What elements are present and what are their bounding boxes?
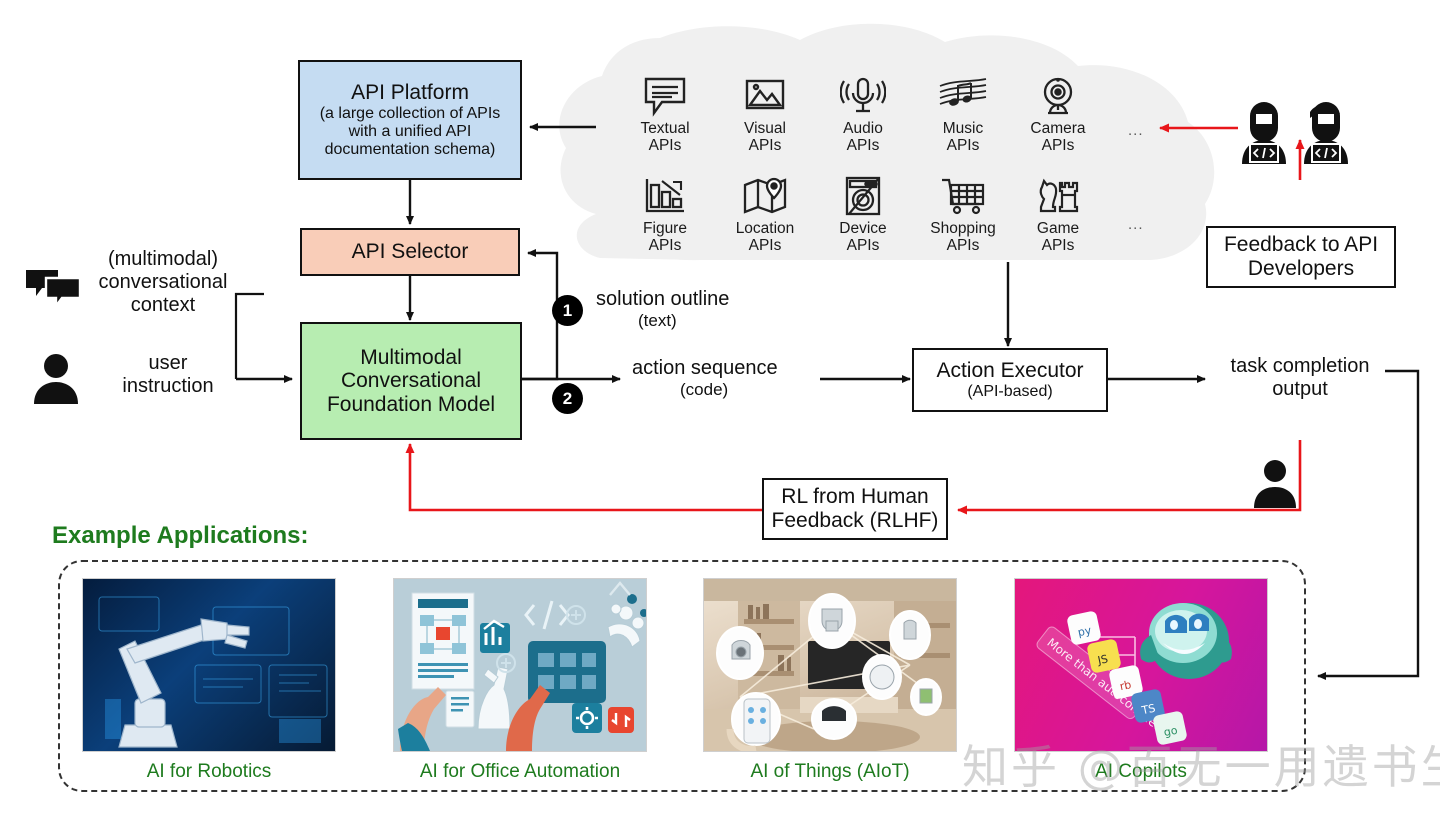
application-robotics[interactable]: AI for Robotics	[82, 578, 336, 783]
foundation-model-line3: Foundation Model	[327, 393, 495, 417]
action-executor-subtitle: (API-based)	[967, 383, 1052, 401]
example-applications-title: Example Applications:	[52, 522, 309, 550]
arrow-output-to-applications	[1318, 371, 1418, 676]
solution-line1: solution outline	[596, 288, 796, 311]
action-line2: (code)	[680, 380, 832, 400]
smart-home-photo	[703, 578, 957, 752]
user-person-icon	[32, 352, 80, 409]
api-platform-line3: documentation schema)	[325, 141, 496, 159]
feedback-to-developers-box[interactable]: Feedback to API Developers	[1206, 226, 1396, 288]
context-line2: conversational	[78, 271, 248, 294]
foundation-model-line1: Multimodal	[360, 346, 462, 370]
task-line2: output	[1210, 378, 1390, 401]
robot-arm-photo	[82, 578, 336, 752]
api-platform-line2: with a unified API	[349, 123, 472, 141]
user-line2: instruction	[92, 375, 244, 398]
feedback-line2: Developers	[1248, 257, 1354, 281]
office-automation-illustration	[393, 578, 647, 752]
application-caption: AI for Office Automation	[393, 761, 647, 783]
application-caption: AI of Things (AIoT)	[703, 761, 957, 783]
rlhf-box[interactable]: RL from Human Feedback (RLHF)	[762, 478, 948, 540]
user-line1: user	[92, 352, 244, 375]
context-line3: context	[78, 294, 248, 317]
user-instruction-label: user instruction	[92, 352, 244, 398]
context-line1: (multimodal)	[78, 248, 248, 271]
application-office-automation[interactable]: AI for Office Automation	[393, 578, 647, 783]
task-completion-label: task completion output	[1210, 355, 1390, 401]
application-aiot[interactable]: AI of Things (AIoT)	[703, 578, 957, 783]
developer-male	[1304, 102, 1348, 164]
developer-female	[1242, 102, 1286, 164]
step-badge-1: 1	[552, 295, 583, 326]
api-platform-title: API Platform	[351, 81, 469, 105]
human-feedback-person-icon	[1252, 458, 1298, 513]
step-badge-2: 2	[552, 383, 583, 414]
watermark: 知乎 @百无一用遗书生	[962, 731, 1440, 797]
foundation-model-box[interactable]: Multimodal Conversational Foundation Mod…	[300, 322, 522, 440]
chat-bubbles-icon	[24, 268, 82, 313]
arrow-output-to-rlhf	[958, 440, 1300, 510]
api-selector-title: API Selector	[352, 240, 469, 264]
developer-avatars-icon	[1236, 96, 1354, 173]
foundation-model-line2: Conversational	[341, 369, 481, 393]
copilot-illustration: More than autocomplete py JS rb TS go	[1014, 578, 1268, 752]
api-platform-box[interactable]: API Platform (a large collection of APIs…	[298, 60, 522, 180]
diagram-canvas: Textual APIs Visual APIs Audio APIs	[0, 0, 1440, 813]
rlhf-line2: Feedback (RLHF)	[772, 509, 939, 533]
copilot-mascot	[1140, 603, 1232, 679]
action-line1: action sequence	[632, 357, 832, 380]
arrow-rlhf-to-model	[410, 444, 762, 510]
action-executor-title: Action Executor	[936, 359, 1083, 383]
solution-line2: (text)	[638, 311, 796, 331]
action-executor-box[interactable]: Action Executor (API-based)	[912, 348, 1108, 412]
feedback-line1: Feedback to API	[1224, 233, 1378, 257]
conversational-context-label: (multimodal) conversational context	[78, 248, 248, 317]
application-caption: AI for Robotics	[82, 761, 336, 783]
arrow-model-to-selector-loop	[522, 253, 557, 379]
api-platform-line1: (a large collection of APIs	[320, 105, 501, 123]
rlhf-line1: RL from Human	[781, 485, 928, 509]
action-sequence-label: action sequence (code)	[632, 357, 832, 400]
api-selector-box[interactable]: API Selector	[300, 228, 520, 276]
task-line1: task completion	[1210, 355, 1390, 378]
solution-outline-label: solution outline (text)	[596, 288, 796, 331]
